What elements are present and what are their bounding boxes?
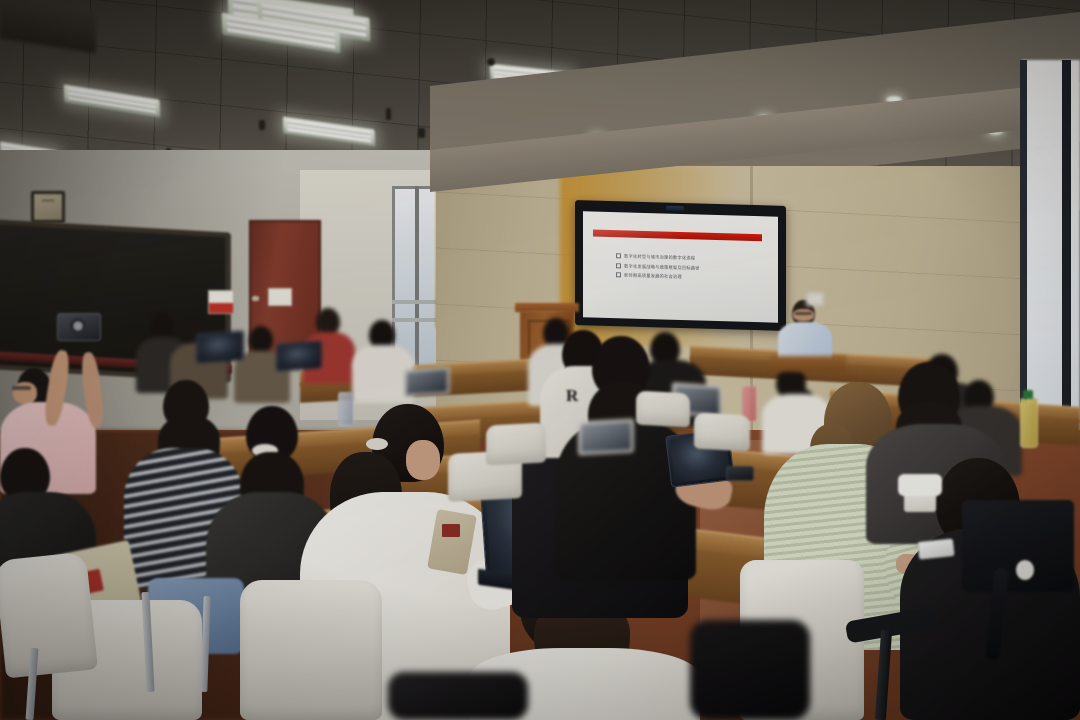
foreground-shadow-mass: [690, 620, 810, 720]
slide-bullet-text: 数字化转型与城市治理的数字化进程: [624, 254, 695, 261]
ceiling-sensor: [386, 108, 391, 120]
plastic-chair[interactable]: [0, 552, 98, 679]
smartphone[interactable]: [917, 538, 955, 560]
ceiling-sensor: [259, 120, 265, 130]
plastic-chair[interactable]: [694, 413, 750, 452]
plastic-chair[interactable]: [486, 422, 546, 465]
ceiling-smoke-detector: [487, 58, 495, 66]
slide-accent-bar: [593, 230, 763, 242]
shirt-letter-r: R: [566, 386, 580, 405]
smartphone[interactable]: [726, 466, 754, 481]
laptop[interactable]: [404, 366, 450, 397]
hair-scrunchie: [366, 438, 388, 450]
slide-bullet-item: 新时期高质量发展的社会治理: [616, 273, 768, 282]
laptop[interactable]: [578, 419, 634, 456]
foreground-shadow-mass: [388, 672, 528, 720]
tea-bottle[interactable]: [1020, 398, 1038, 448]
wall-clock-icon: [31, 191, 65, 223]
shoulder-bag[interactable]: [962, 500, 1074, 592]
plastic-chair[interactable]: [240, 580, 382, 720]
slide-bullet-text: 数字化发展战略与政策框架及目标路径: [624, 263, 700, 270]
attendee-neck: [406, 440, 440, 480]
drink-bottle[interactable]: [338, 392, 354, 426]
window-frame: [1062, 60, 1071, 460]
eyeglasses-icon: [12, 386, 31, 390]
presenter-desk: [770, 356, 846, 372]
laptop[interactable]: [196, 330, 244, 363]
wall-notice-sign: [208, 290, 234, 314]
wall-control-panel: [806, 292, 824, 306]
presenter-face: [793, 309, 814, 321]
eyeglasses-icon: [795, 312, 812, 315]
door-handle[interactable]: [252, 296, 259, 301]
display-screen[interactable]: 数字化转型与城市治理的数字化进程 数字化发展战略与政策框架及目标路径 新时期高质…: [583, 211, 778, 322]
door-notice-sign: [268, 288, 292, 306]
ceiling-speaker: [418, 128, 425, 138]
video-camera-bar-icon: [666, 206, 684, 212]
bag-keychain: [1016, 560, 1034, 580]
camera-lens-icon: [70, 318, 86, 334]
slide-bullet-list: 数字化转型与城市治理的数字化进程 数字化发展战略与政策框架及目标路径 新时期高质…: [616, 254, 768, 287]
laptop[interactable]: [276, 340, 322, 371]
bag-logo: [442, 524, 460, 537]
bullet-marker-icon: [616, 273, 621, 278]
bullet-marker-icon: [616, 254, 621, 259]
slide-bullet-item: 数字化转型与城市治理的数字化进程: [616, 254, 768, 263]
slide-bullet-item: 数字化发展战略与政策框架及目标路径: [616, 263, 768, 272]
slide-bullet-text: 新时期高质量发展的社会治理: [624, 273, 682, 280]
bullet-marker-icon: [616, 263, 621, 268]
lecture-hall-photo: 数字化转型与城市治理的数字化进程 数字化发展战略与政策框架及目标路径 新时期高质…: [0, 0, 1080, 720]
bottle-cap: [1023, 390, 1033, 399]
tissue: [898, 474, 942, 496]
plastic-chair[interactable]: [636, 391, 690, 428]
